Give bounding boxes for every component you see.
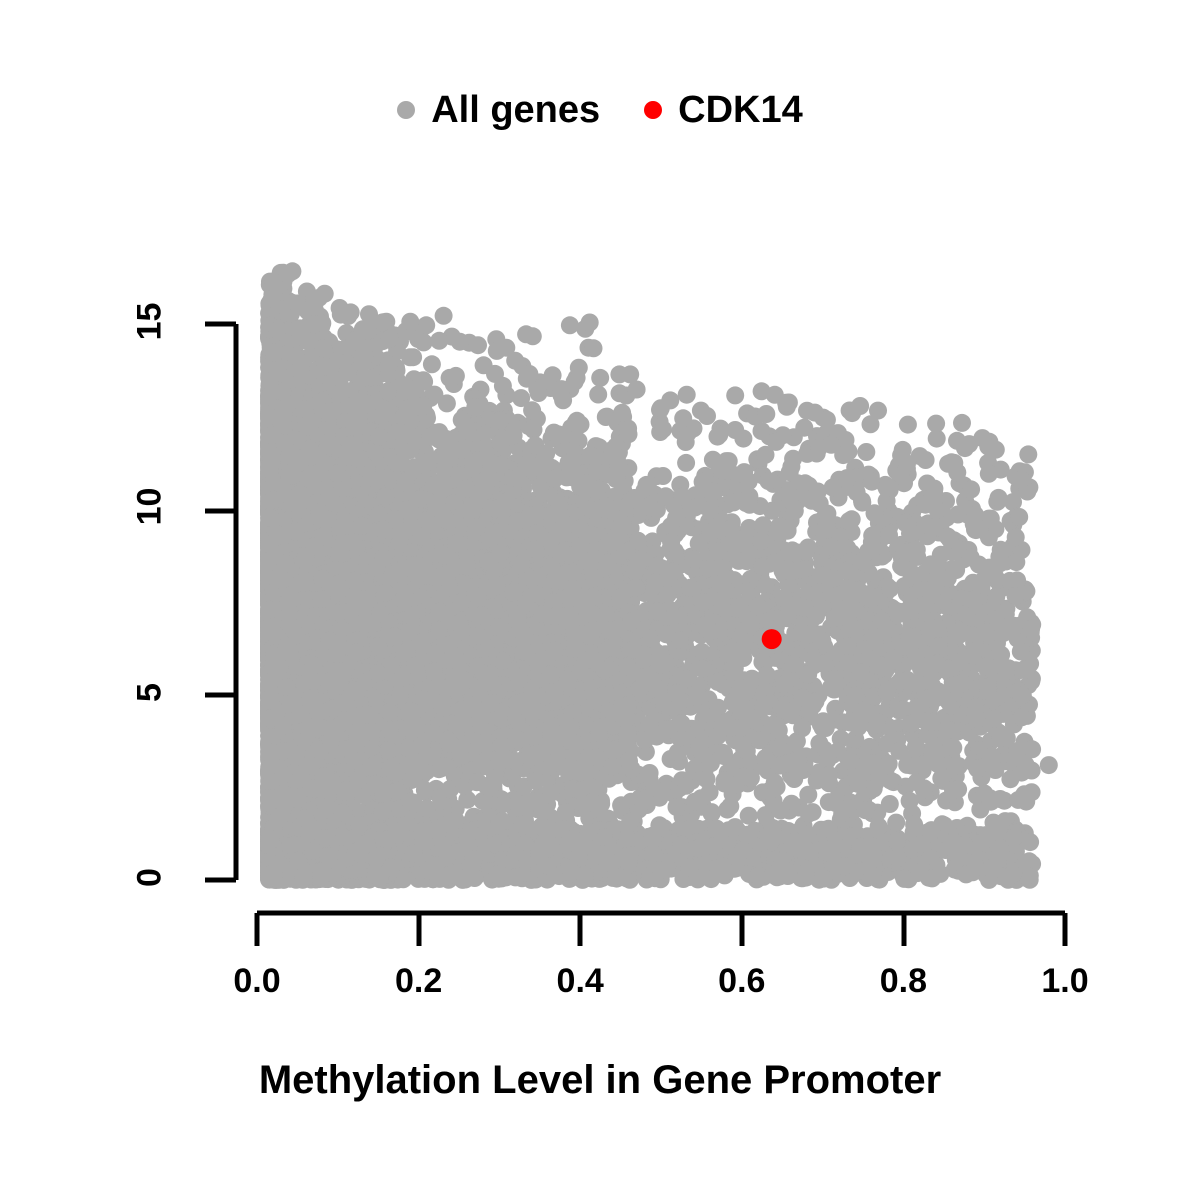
y-tick-label: 0 <box>131 848 170 908</box>
scatter-plot-figure: All genes CDK14 Methylation Level in Gen… <box>0 0 1200 1200</box>
x-tick-label: 0.0 <box>233 962 280 1001</box>
y-tick-label: 5 <box>131 662 170 722</box>
x-tick-label: 0.8 <box>880 962 927 1001</box>
cdk14-point <box>762 629 782 649</box>
x-tick-label: 0.2 <box>395 962 442 1001</box>
highlight-points-layer <box>762 629 782 649</box>
x-tick-label: 0.4 <box>557 962 604 1001</box>
y-tick-label: 10 <box>131 477 170 537</box>
x-axis-title: Methylation Level in Gene Promoter <box>0 1058 1200 1103</box>
y-tick-label: 15 <box>131 292 170 352</box>
x-tick-label: 0.6 <box>718 962 765 1001</box>
x-tick-label: 1.0 <box>1041 962 1088 1001</box>
plot-canvas <box>0 0 1200 1200</box>
